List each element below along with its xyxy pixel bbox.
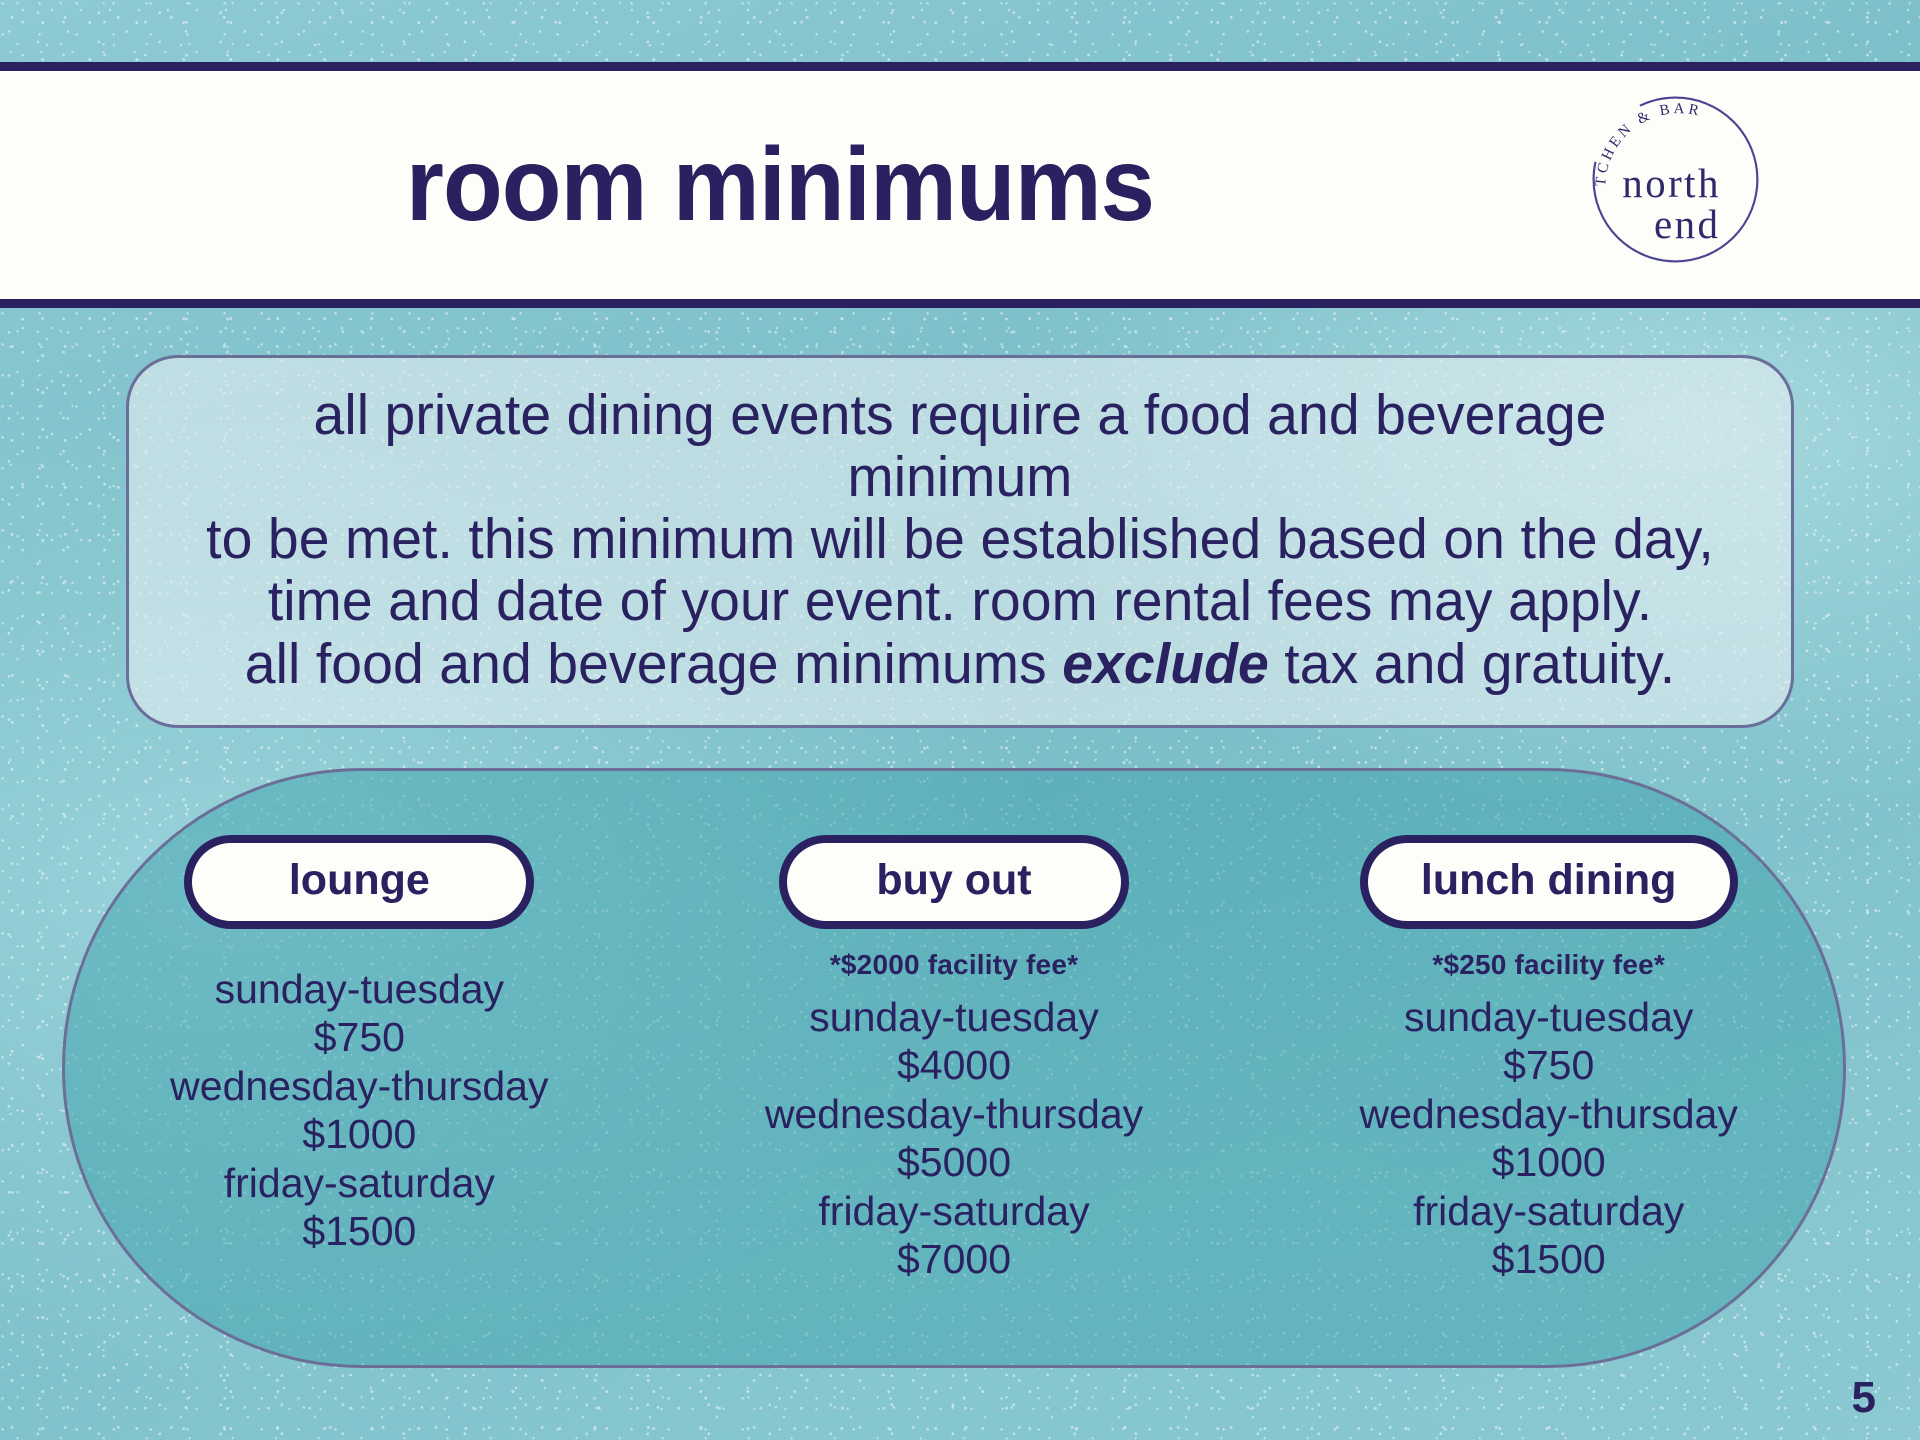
days-label: sunday-tuesday (170, 965, 548, 1013)
policy-line-4: all food and beverage minimums exclude t… (197, 633, 1724, 695)
price-value: $1000 (1360, 1138, 1738, 1186)
pricing-column-buy-out: buy out *$2000 facility fee* sunday-tues… (657, 768, 1252, 1368)
days-label: wednesday-thursday (1360, 1090, 1738, 1138)
pricing-rows-lunch-dining: sunday-tuesday $750 wednesday-thursday $… (1360, 993, 1738, 1283)
price-value: $750 (170, 1013, 548, 1061)
logo-word-north: north (1622, 161, 1721, 206)
policy-line-1: all private dining events require a food… (197, 384, 1724, 508)
price-value: $7000 (765, 1235, 1143, 1283)
days-label: friday-saturday (1360, 1187, 1738, 1235)
pricing-rows-buy-out: sunday-tuesday $4000 wednesday-thursday … (765, 993, 1143, 1283)
price-value: $4000 (765, 1041, 1143, 1089)
price-value: $5000 (765, 1138, 1143, 1186)
price-value: $1500 (1360, 1235, 1738, 1283)
minimum-policy-card: all private dining events require a food… (126, 355, 1794, 728)
header-top-rule (0, 62, 1920, 71)
policy-line-4-lead: all food and beverage minimums (245, 632, 1062, 696)
category-pill-lounge[interactable]: lounge (184, 835, 534, 929)
header-bottom-rule (0, 299, 1920, 308)
days-label: friday-saturday (765, 1187, 1143, 1235)
days-label: sunday-tuesday (1360, 993, 1738, 1041)
facility-fee-buy-out: *$2000 facility fee* (830, 951, 1078, 979)
price-value: $1500 (170, 1207, 548, 1255)
policy-line-2: to be met. this minimum will be establis… (197, 508, 1724, 570)
pricing-column-lunch-dining: lunch dining *$250 facility fee* sunday-… (1251, 768, 1846, 1368)
policy-line-4-tail: tax and gratuity. (1269, 632, 1675, 696)
pricing-rows-lounge: sunday-tuesday $750 wednesday-thursday $… (170, 965, 548, 1255)
policy-line-3: time and date of your event. room rental… (197, 570, 1724, 632)
logo-word-end: end (1654, 202, 1720, 247)
days-label: friday-saturday (170, 1159, 548, 1207)
facility-fee-lunch-dining: *$250 facility fee* (1432, 951, 1665, 979)
pricing-columns: lounge sunday-tuesday $750 wednesday-thu… (62, 768, 1846, 1368)
policy-exclude-emphasis: exclude (1062, 632, 1269, 696)
days-label: wednesday-thursday (170, 1062, 548, 1110)
page-number: 5 (1852, 1376, 1876, 1420)
price-value: $1000 (170, 1110, 548, 1158)
category-pill-buy-out[interactable]: buy out (779, 835, 1129, 929)
days-label: wednesday-thursday (765, 1090, 1143, 1138)
category-pill-lunch-dining[interactable]: lunch dining (1360, 835, 1738, 929)
north-end-logo: KITCHEN & BAR north end (1578, 82, 1773, 277)
pricing-column-lounge: lounge sunday-tuesday $750 wednesday-thu… (62, 768, 657, 1368)
days-label: sunday-tuesday (765, 993, 1143, 1041)
page-title: room minimums (47, 71, 1513, 299)
slide-header: room minimums KITCHEN & BAR north end (0, 0, 1920, 310)
price-value: $750 (1360, 1041, 1738, 1089)
